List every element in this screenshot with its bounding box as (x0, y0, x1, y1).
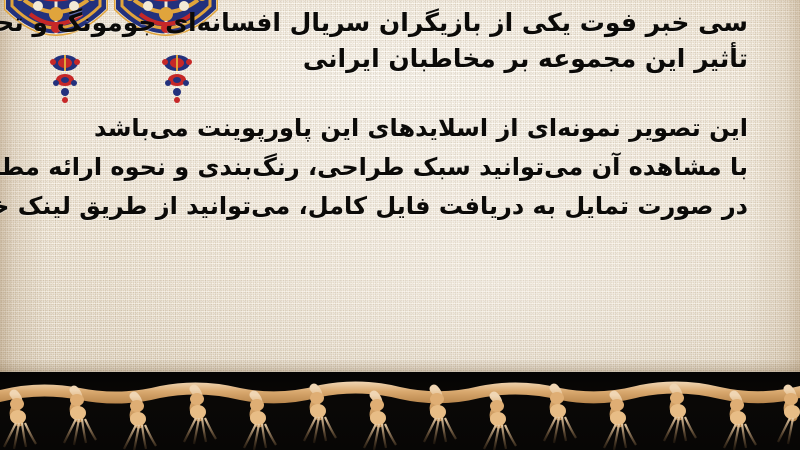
body-line-1: این تصویر نمونه‌ای از اسلایدهای این پاور… (94, 113, 748, 143)
body-line-3: در صورت تمایل به دریافت فایل کامل، می‌تو… (0, 191, 748, 221)
heading-line-1: سی خبر فوت یکی از بازیگران سریال افسانه‌… (0, 8, 748, 38)
body-line-2: با مشاهده آن می‌توانید سبک طراحی، رنگ‌بن… (0, 152, 748, 182)
heading-line-2: تأثیر این مجموعه بر مخاطبان ایرانی (303, 44, 748, 74)
knotted-carpet-fringe-icon (0, 368, 800, 450)
slide-canvas: سی خبر فوت یکی از بازیگران سریال افسانه‌… (0, 0, 800, 450)
carpet-fringe-zone (0, 368, 800, 450)
slide-text-block: سی خبر فوت یکی از بازیگران سریال افسانه‌… (0, 0, 800, 250)
